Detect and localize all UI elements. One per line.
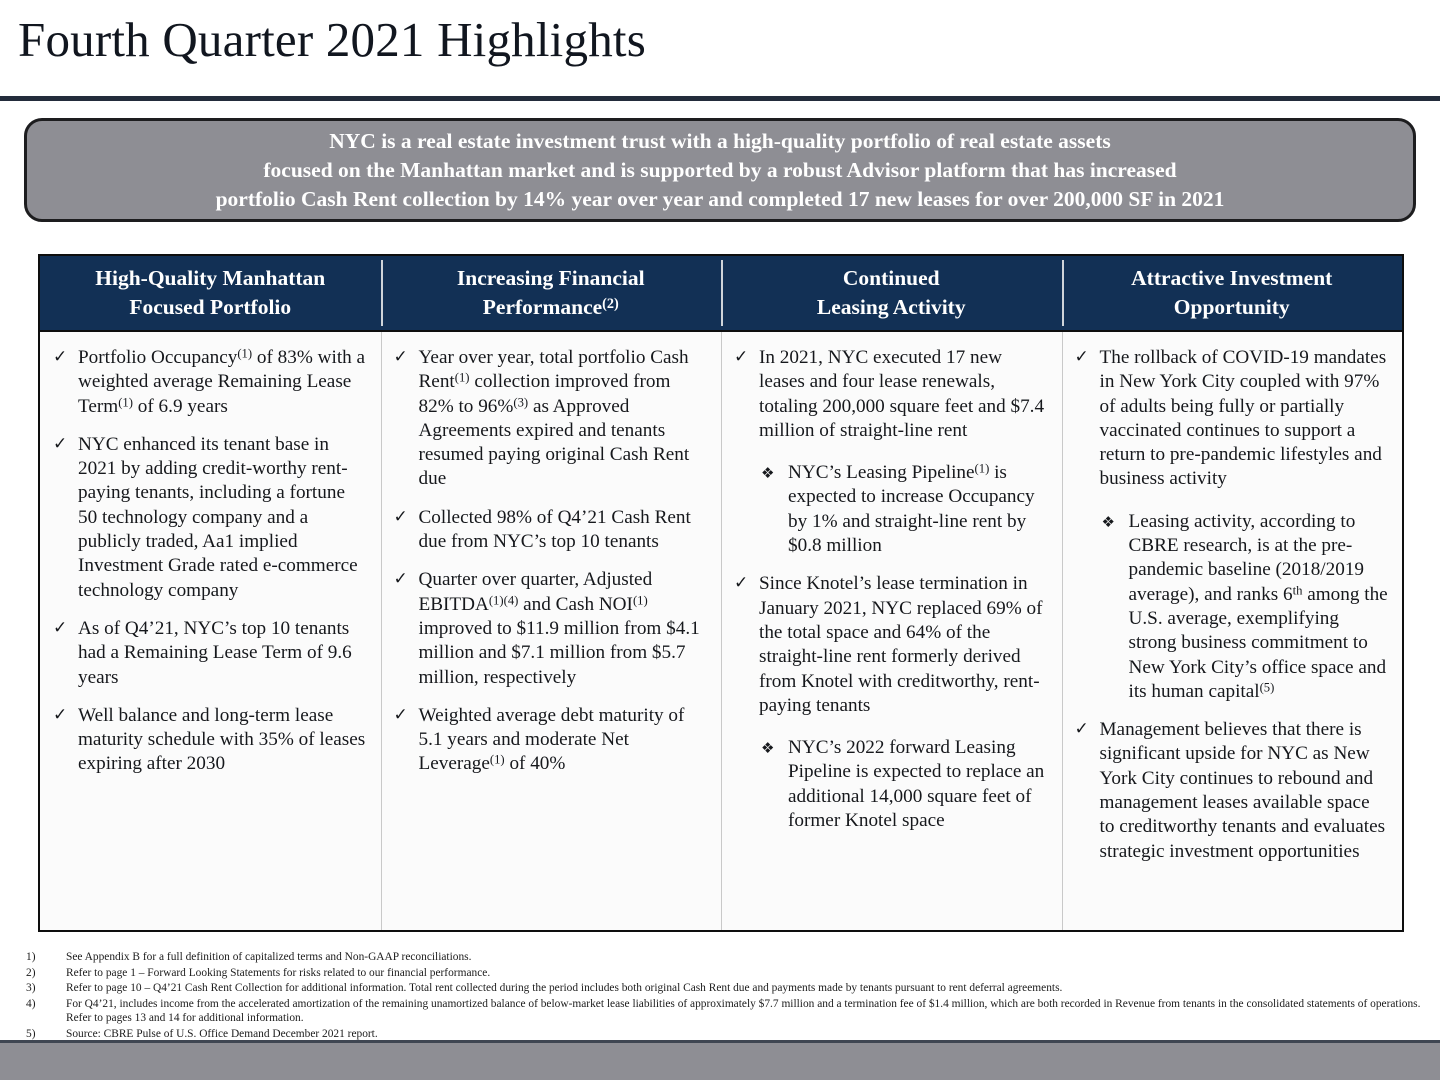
column-header-line1: High-Quality Manhattan bbox=[95, 266, 325, 290]
bullet-item: ✓NYC enhanced its tenant base in 2021 by… bbox=[50, 433, 367, 603]
bullet-item: ✓As of Q4’21, NYC’s top 10 tenants had a… bbox=[50, 617, 367, 690]
diamond-bullet-icon: ❖ bbox=[1102, 510, 1115, 534]
check-bullet-icon: ✓ bbox=[394, 505, 408, 529]
footnotes: 1)See Appendix B for a full definition o… bbox=[26, 950, 1426, 1043]
footnote-text: See Appendix B for a full definition of … bbox=[66, 950, 1426, 965]
bullet-list: ✓The rollback of COVID-19 mandates in Ne… bbox=[1072, 346, 1389, 864]
column-header-financial: Increasing Financial Performance(2) bbox=[381, 256, 722, 330]
footnote-text: For Q4’21, includes income from the acce… bbox=[66, 997, 1426, 1026]
bullet-item: ✓Portfolio Occupancy(1) of 83% with a we… bbox=[50, 346, 367, 419]
column-body-investment: ✓The rollback of COVID-19 mandates in Ne… bbox=[1062, 332, 1403, 930]
check-bullet-icon: ✓ bbox=[53, 703, 67, 727]
column-header-line2: Performance bbox=[483, 295, 602, 319]
page-title: Fourth Quarter 2021 Highlights bbox=[18, 14, 646, 65]
footnote-item: 1)See Appendix B for a full definition o… bbox=[26, 950, 1426, 965]
check-bullet-icon: ✓ bbox=[734, 571, 748, 595]
column-header-line2: Leasing Activity bbox=[817, 295, 966, 319]
check-bullet-icon: ✓ bbox=[394, 345, 408, 369]
column-body-leasing: ✓In 2021, NYC executed 17 new leases and… bbox=[721, 332, 1062, 930]
summary-line-2: focused on the Manhattan market and is s… bbox=[41, 156, 1399, 185]
check-bullet-icon: ✓ bbox=[394, 703, 408, 727]
bullet-item: ✓The rollback of COVID-19 mandates in Ne… bbox=[1072, 346, 1389, 492]
footnote-text: Refer to page 1 – Forward Looking Statem… bbox=[66, 966, 1426, 981]
bullet-text: Since Knotel’s lease termination in Janu… bbox=[759, 573, 1042, 715]
check-bullet-icon: ✓ bbox=[53, 432, 67, 456]
column-header-line1: Continued bbox=[843, 266, 940, 290]
bullet-item: ✓Year over year, total portfolio Cash Re… bbox=[391, 346, 708, 492]
bullet-item: ✓Quarter over quarter, Adjusted EBITDA(1… bbox=[391, 568, 708, 689]
bullet-text: Leasing activity, according to CBRE rese… bbox=[1129, 511, 1388, 702]
check-bullet-icon: ✓ bbox=[53, 616, 67, 640]
bullet-text: NYC enhanced its tenant base in 2021 by … bbox=[78, 434, 358, 601]
column-header-line1: Increasing Financial bbox=[457, 266, 645, 290]
bullet-item: ✓Well balance and long-term lease maturi… bbox=[50, 704, 367, 777]
check-bullet-icon: ✓ bbox=[1075, 717, 1089, 741]
footnote-number: 3) bbox=[26, 981, 66, 996]
table-body: ✓Portfolio Occupancy(1) of 83% with a we… bbox=[40, 330, 1402, 930]
column-header-line1: Attractive Investment bbox=[1131, 266, 1332, 290]
bullet-item: ✓In 2021, NYC executed 17 new leases and… bbox=[731, 346, 1048, 443]
footnote-item: 2)Refer to page 1 – Forward Looking Stat… bbox=[26, 966, 1426, 981]
sub-bullet-item: ❖Leasing activity, according to CBRE res… bbox=[1072, 510, 1389, 704]
column-body-portfolio: ✓Portfolio Occupancy(1) of 83% with a we… bbox=[40, 332, 381, 930]
bullet-text: Portfolio Occupancy(1) of 83% with a wei… bbox=[78, 347, 365, 417]
column-header-leasing: Continued Leasing Activity bbox=[721, 256, 1062, 330]
summary-callout: NYC is a real estate investment trust wi… bbox=[24, 118, 1416, 222]
column-header-line2: Focused Portfolio bbox=[129, 295, 291, 319]
bullet-text: NYC’s 2022 forward Leasing Pipeline is e… bbox=[788, 737, 1044, 831]
bullet-item: ✓Since Knotel’s lease termination in Jan… bbox=[731, 572, 1048, 718]
bullet-text: Weighted average debt maturity of 5.1 ye… bbox=[419, 705, 685, 775]
bullet-list: ✓Year over year, total portfolio Cash Re… bbox=[391, 346, 708, 777]
bullet-item: ✓Management believes that there is signi… bbox=[1072, 718, 1389, 864]
bullet-text: Year over year, total portfolio Cash Ren… bbox=[419, 347, 690, 489]
column-header-footnote-ref: (2) bbox=[602, 296, 619, 312]
column-header-investment: Attractive Investment Opportunity bbox=[1062, 256, 1403, 330]
bullet-text: NYC’s Leasing Pipeline(1) is expected to… bbox=[788, 462, 1035, 556]
bullet-text: Well balance and long-term lease maturit… bbox=[78, 705, 365, 775]
bullet-list: ✓Portfolio Occupancy(1) of 83% with a we… bbox=[50, 346, 367, 777]
footnote-number: 2) bbox=[26, 966, 66, 981]
diamond-bullet-icon: ❖ bbox=[761, 736, 774, 760]
bullet-text: As of Q4’21, NYC’s top 10 tenants had a … bbox=[78, 618, 352, 688]
footnote-item: 4)For Q4’21, includes income from the ac… bbox=[26, 997, 1426, 1026]
check-bullet-icon: ✓ bbox=[734, 345, 748, 369]
sub-bullet-item: ❖NYC’s Leasing Pipeline(1) is expected t… bbox=[731, 461, 1048, 558]
bottom-bar bbox=[0, 1043, 1440, 1080]
column-header-portfolio: High-Quality Manhattan Focused Portfolio bbox=[40, 256, 381, 330]
footnote-text: Refer to page 10 – Q4’21 Cash Rent Colle… bbox=[66, 981, 1426, 996]
diamond-bullet-icon: ❖ bbox=[761, 461, 774, 485]
bullet-item: ✓Collected 98% of Q4’21 Cash Rent due fr… bbox=[391, 506, 708, 555]
footnote-number: 4) bbox=[26, 997, 66, 1026]
bullet-text: Quarter over quarter, Adjusted EBITDA(1)… bbox=[419, 569, 700, 687]
sub-bullet-item: ❖NYC’s 2022 forward Leasing Pipeline is … bbox=[731, 736, 1048, 833]
bullet-text: In 2021, NYC executed 17 new leases and … bbox=[759, 347, 1044, 441]
bullet-text: Collected 98% of Q4’21 Cash Rent due fro… bbox=[419, 507, 691, 552]
column-header-line2: Opportunity bbox=[1174, 295, 1290, 319]
check-bullet-icon: ✓ bbox=[394, 567, 408, 591]
highlights-table: High-Quality Manhattan Focused Portfolio… bbox=[38, 254, 1404, 932]
check-bullet-icon: ✓ bbox=[1075, 345, 1089, 369]
footnote-item: 3)Refer to page 10 – Q4’21 Cash Rent Col… bbox=[26, 981, 1426, 996]
bullet-item: ✓Weighted average debt maturity of 5.1 y… bbox=[391, 704, 708, 777]
bullet-text: The rollback of COVID-19 mandates in New… bbox=[1100, 347, 1387, 489]
summary-line-3: portfolio Cash Rent collection by 14% ye… bbox=[41, 185, 1399, 214]
footnote-number: 1) bbox=[26, 950, 66, 965]
column-body-financial: ✓Year over year, total portfolio Cash Re… bbox=[381, 332, 722, 930]
bullet-list: ✓In 2021, NYC executed 17 new leases and… bbox=[731, 346, 1048, 833]
table-header-row: High-Quality Manhattan Focused Portfolio… bbox=[40, 256, 1402, 330]
check-bullet-icon: ✓ bbox=[53, 345, 67, 369]
summary-callout-text: NYC is a real estate investment trust wi… bbox=[27, 127, 1413, 214]
title-divider bbox=[0, 96, 1440, 101]
summary-line-1: NYC is a real estate investment trust wi… bbox=[41, 127, 1399, 156]
bullet-text: Management believes that there is signif… bbox=[1100, 719, 1386, 861]
